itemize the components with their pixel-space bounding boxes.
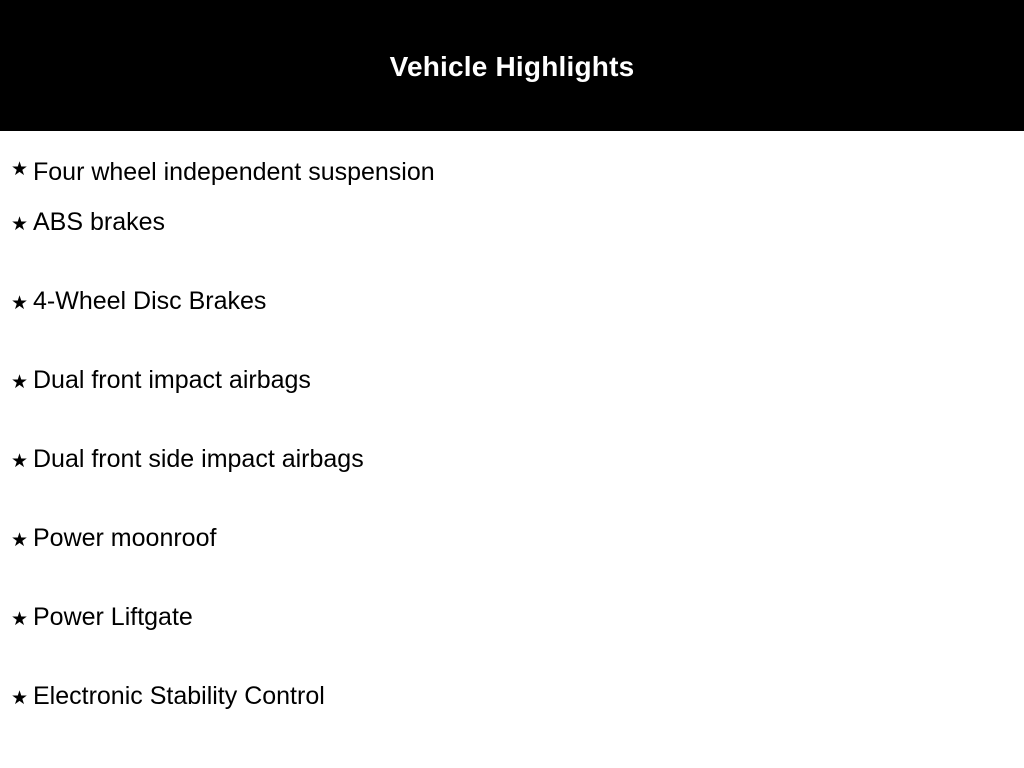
- star-icon: ★: [0, 215, 33, 234]
- vehicle-highlights-list: ★ Four wheel independent suspension ★ AB…: [0, 131, 1024, 763]
- list-item: ★ Four wheel independent suspension: [0, 131, 1024, 210]
- star-icon: ★: [0, 610, 33, 629]
- star-icon: ★: [0, 452, 33, 471]
- list-item: ★ Power Liftgate: [0, 605, 1024, 684]
- vehicle-highlights-page: Vehicle Highlights ★ Four wheel independ…: [0, 0, 1024, 768]
- list-item-label: Four wheel independent suspension: [33, 160, 435, 185]
- page-title: Vehicle Highlights: [390, 53, 635, 81]
- star-icon: ★: [0, 373, 33, 392]
- list-item-label: Power moonroof: [33, 526, 216, 551]
- list-item-label: 4-Wheel Disc Brakes: [33, 289, 266, 314]
- list-item-label: Electronic Stability Control: [33, 684, 325, 709]
- list-item: ★ ABS brakes: [0, 210, 1024, 289]
- list-item: ★ 4-Wheel Disc Brakes: [0, 289, 1024, 368]
- list-item: ★ Electronic Stability Control: [0, 684, 1024, 763]
- list-item: ★ Dual front impact airbags: [0, 368, 1024, 447]
- list-item: ★ Dual front side impact airbags: [0, 447, 1024, 526]
- list-item-label: ABS brakes: [33, 210, 165, 235]
- star-icon: ★: [0, 294, 33, 313]
- list-item: ★ Power moonroof: [0, 526, 1024, 605]
- star-icon: ★: [0, 689, 33, 708]
- page-header: Vehicle Highlights: [0, 0, 1024, 131]
- star-icon: ★: [0, 160, 33, 179]
- list-item-label: Dual front impact airbags: [33, 368, 311, 393]
- star-icon: ★: [0, 531, 33, 550]
- list-item-label: Dual front side impact airbags: [33, 447, 364, 472]
- list-item-label: Power Liftgate: [33, 605, 193, 630]
